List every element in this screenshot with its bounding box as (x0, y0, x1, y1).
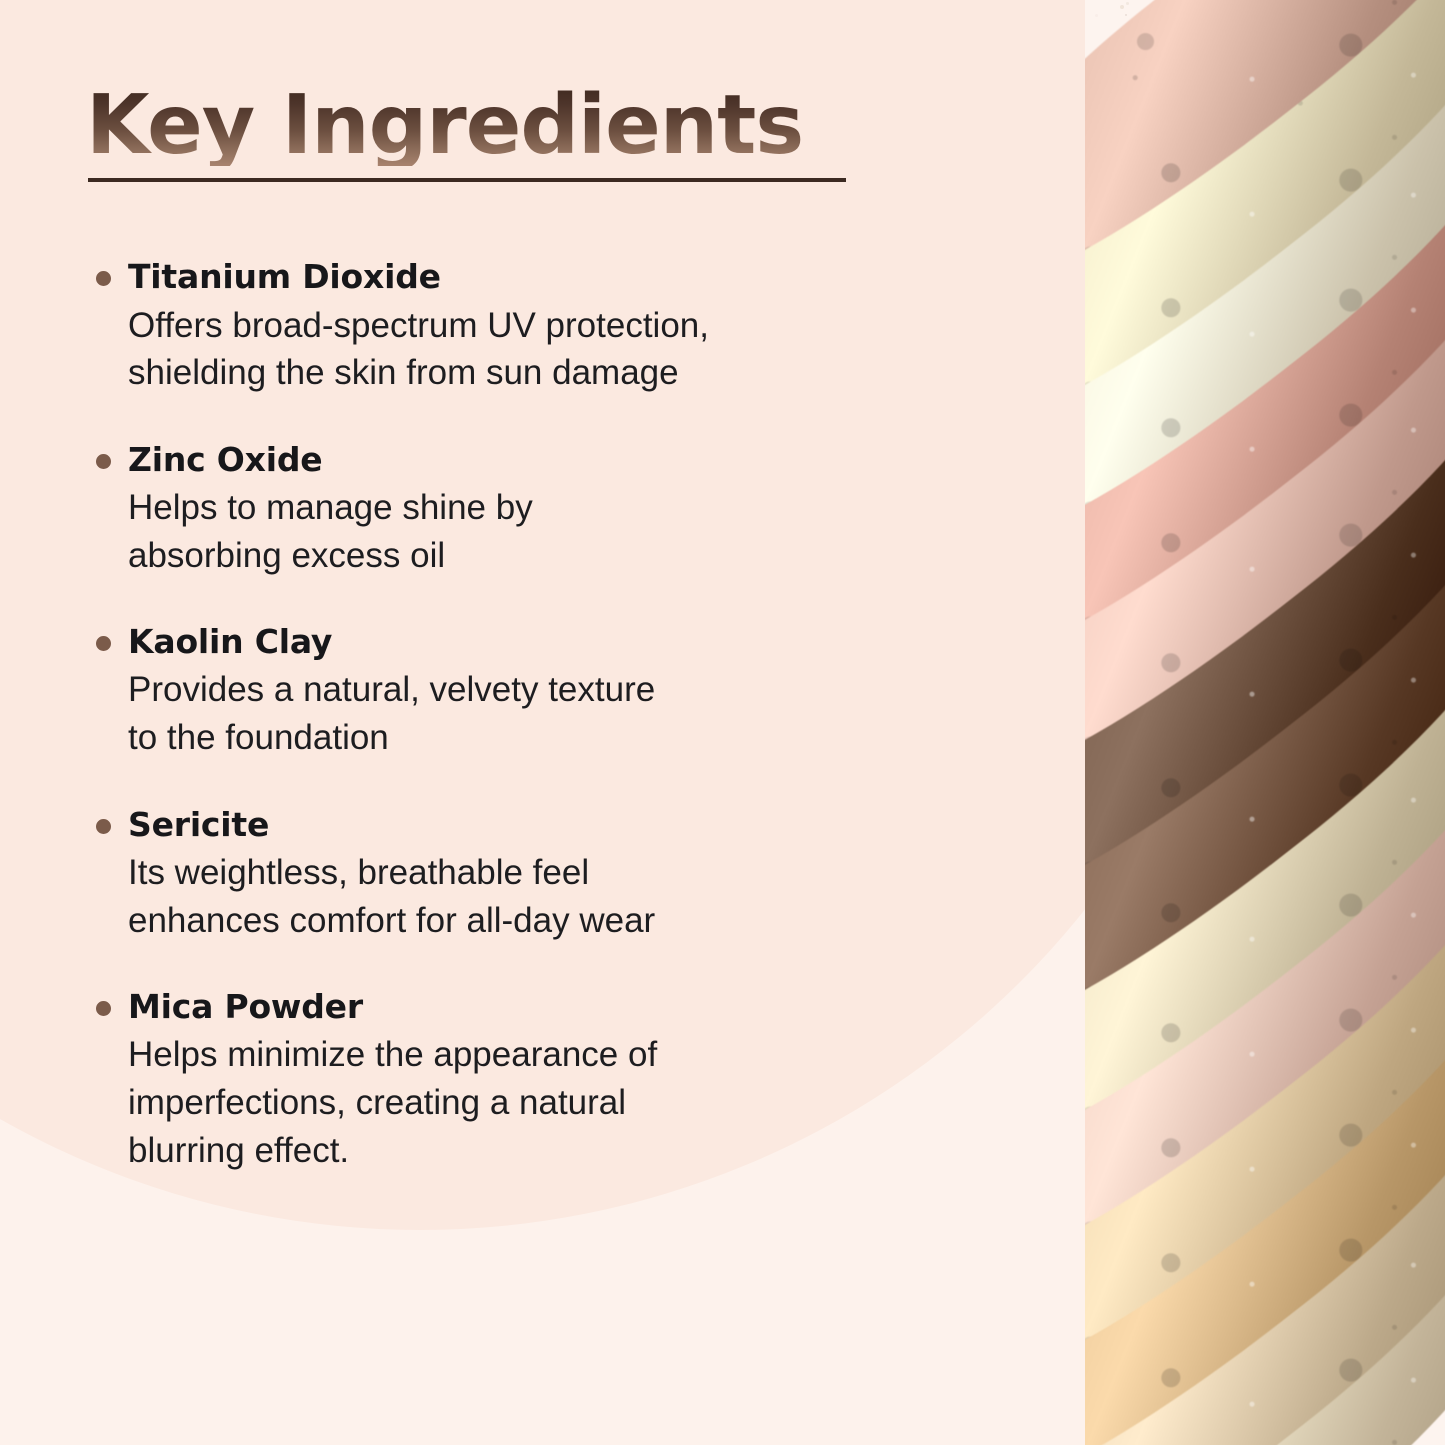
ingredient-description: Helps to manage shine by absorbing exces… (128, 484, 968, 579)
ingredient-description: Offers broad-spectrum UV protection, shi… (128, 302, 968, 397)
ingredient-name: Mica Powder (128, 986, 1080, 1027)
ingredient-description: Its weightless, breathable feel enhances… (128, 849, 968, 944)
content-column: Key Ingredients Titanium DioxideOffers b… (0, 0, 1080, 1445)
page-title-block: Key Ingredients (86, 86, 803, 182)
ingredient-description: Helps minimize the appearance of imperfe… (128, 1031, 968, 1174)
ingredient-item: Zinc OxideHelps to manage shine by absor… (86, 439, 1080, 579)
bullet-dot-icon (96, 271, 111, 286)
powder-swatch-image (1085, 0, 1445, 1445)
bullet-dot-icon (96, 454, 111, 469)
ingredient-item: Titanium DioxideOffers broad-spectrum UV… (86, 256, 1080, 396)
powder-particle (1126, 2, 1129, 5)
bullet-dot-icon (96, 636, 111, 651)
bullet-dot-icon (96, 1001, 111, 1016)
ingredient-description: Provides a natural, velvety texture to t… (128, 666, 968, 761)
ingredient-item: Kaolin ClayProvides a natural, velvety t… (86, 621, 1080, 761)
ingredient-item: Mica PowderHelps minimize the appearance… (86, 986, 1080, 1174)
powder-particle (1120, 5, 1124, 9)
powder-particle (1095, 14, 1098, 17)
title-underline (88, 178, 846, 182)
page-title: Key Ingredients (86, 86, 803, 166)
ingredient-name: Sericite (128, 804, 1080, 845)
ingredient-item: SericiteIts weightless, breathable feel … (86, 804, 1080, 944)
ingredient-list: Titanium DioxideOffers broad-spectrum UV… (86, 256, 1080, 1174)
ingredient-name: Titanium Dioxide (128, 256, 1080, 297)
ingredient-name: Zinc Oxide (128, 439, 1080, 480)
bullet-dot-icon (96, 819, 111, 834)
key-ingredients-infographic: Key Ingredients Titanium DioxideOffers b… (0, 0, 1445, 1445)
powder-particle (1125, 14, 1126, 15)
ingredient-name: Kaolin Clay (128, 621, 1080, 662)
